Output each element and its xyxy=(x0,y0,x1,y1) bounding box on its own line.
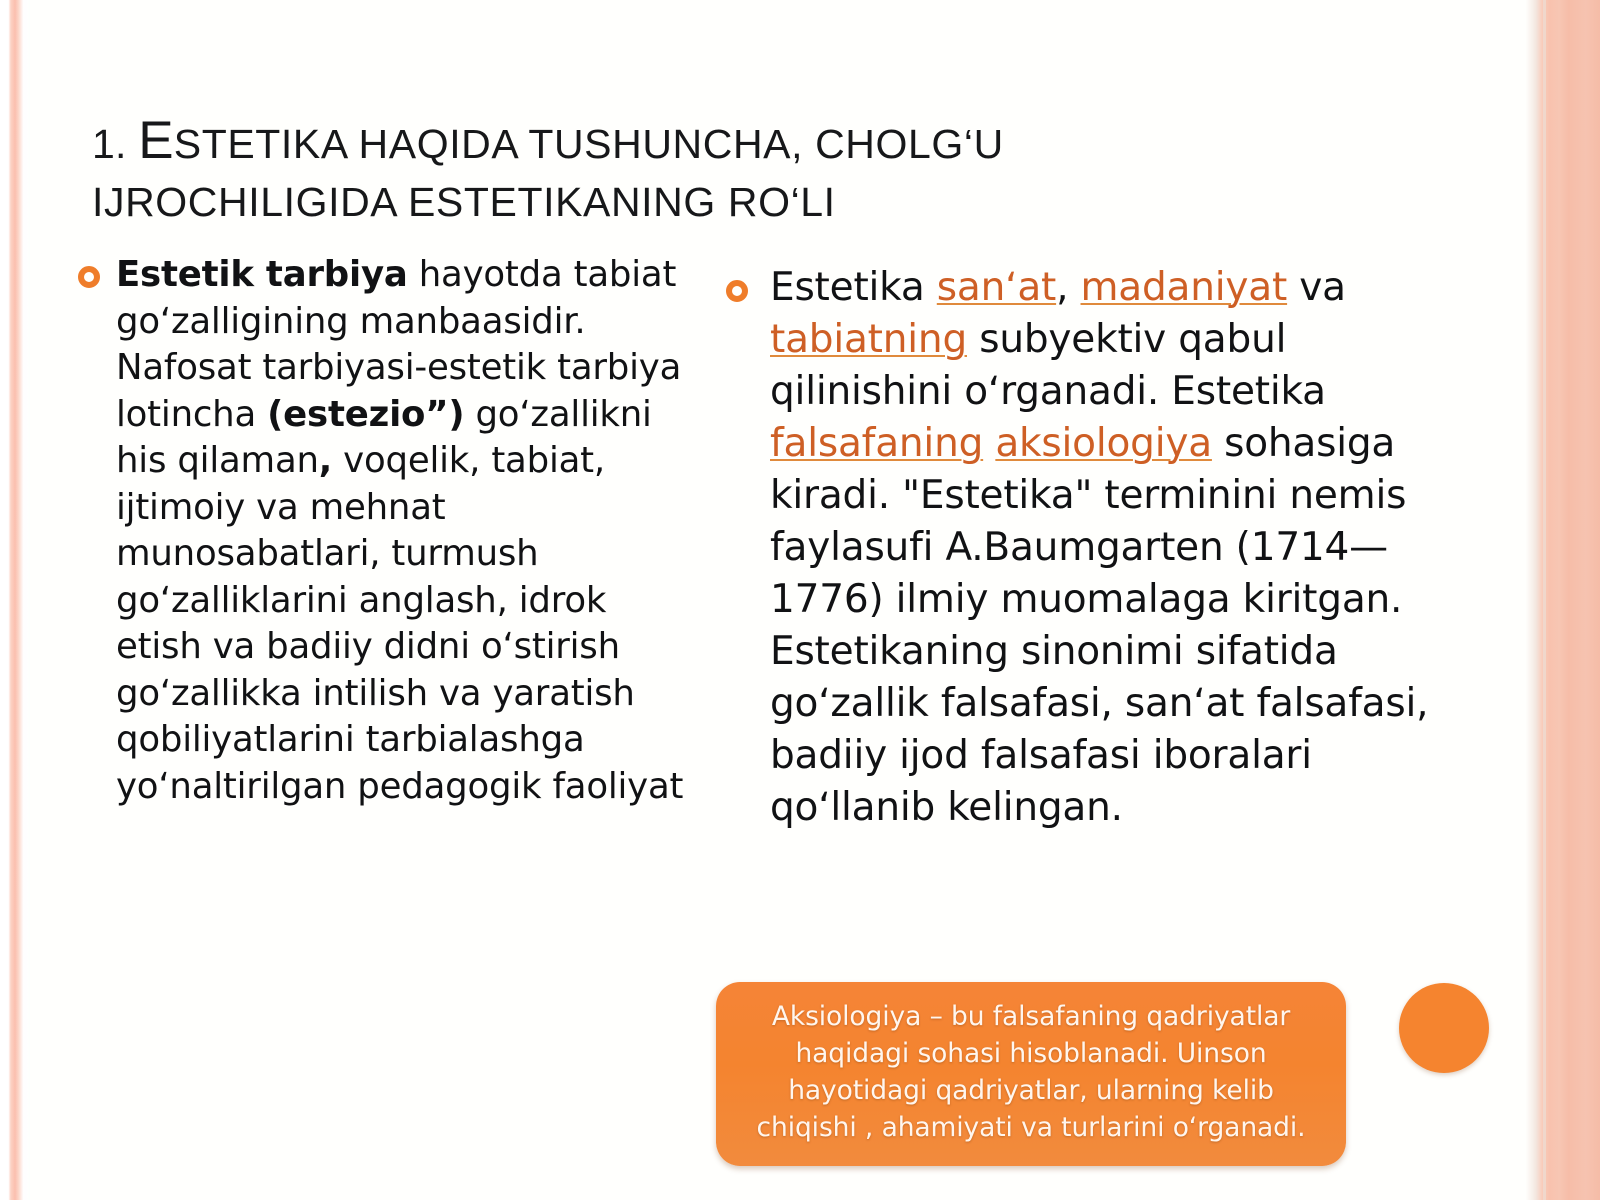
title-line-1-rest: STETIKA HAQIDA TUSHUNCHA, CHOLG‘U xyxy=(174,121,1004,167)
slide-title: 1. ESTETIKA HAQIDA TUSHUNCHA, CHOLG‘U IJ… xyxy=(92,107,1352,229)
title-line-1: 1. ESTETIKA HAQIDA TUSHUNCHA, CHOLG‘U xyxy=(92,107,1352,176)
hyperlink[interactable]: falsafaning xyxy=(770,421,983,466)
hyperlink[interactable]: aksiologiya xyxy=(995,421,1212,466)
hyperlink[interactable]: madaniyat xyxy=(1081,265,1288,310)
left-column-text: Estetik tarbiya hayotda tabiat go‘zallig… xyxy=(116,252,688,810)
callout-text: Aksiologiya – bu falsafaning qadriyatlar… xyxy=(738,998,1324,1146)
right-edge-decoration xyxy=(1480,0,1600,1200)
left-edge-decoration xyxy=(0,0,30,1200)
orange-circle xyxy=(1399,983,1489,1073)
title-number: 1. xyxy=(92,121,127,167)
right-edge-stripe xyxy=(1543,0,1546,1200)
right-bullet-block: Estetika san‘at, madaniyat va tabiatning… xyxy=(726,262,1456,834)
title-line-2-text: IJROCHILIGIDA ESTETIKANING RO‘LI xyxy=(92,179,836,225)
hyperlink[interactable]: tabiatning xyxy=(770,317,967,362)
title-first-cap: E xyxy=(138,111,174,170)
ring-bullet-icon xyxy=(726,280,748,302)
title-line-2: IJROCHILIGIDA ESTETIKANING RO‘LI xyxy=(92,176,1352,229)
aksiologiya-callout-box: Aksiologiya – bu falsafaning qadriyatlar… xyxy=(716,982,1346,1166)
slide: 1. ESTETIKA HAQIDA TUSHUNCHA, CHOLG‘U IJ… xyxy=(0,0,1600,1200)
ring-bullet-icon xyxy=(78,266,100,288)
right-column-text: Estetika san‘at, madaniyat va tabiatning… xyxy=(770,262,1456,834)
hyperlink[interactable]: san‘at xyxy=(937,265,1056,310)
left-bullet-block: Estetik tarbiya hayotda tabiat go‘zallig… xyxy=(78,252,688,810)
